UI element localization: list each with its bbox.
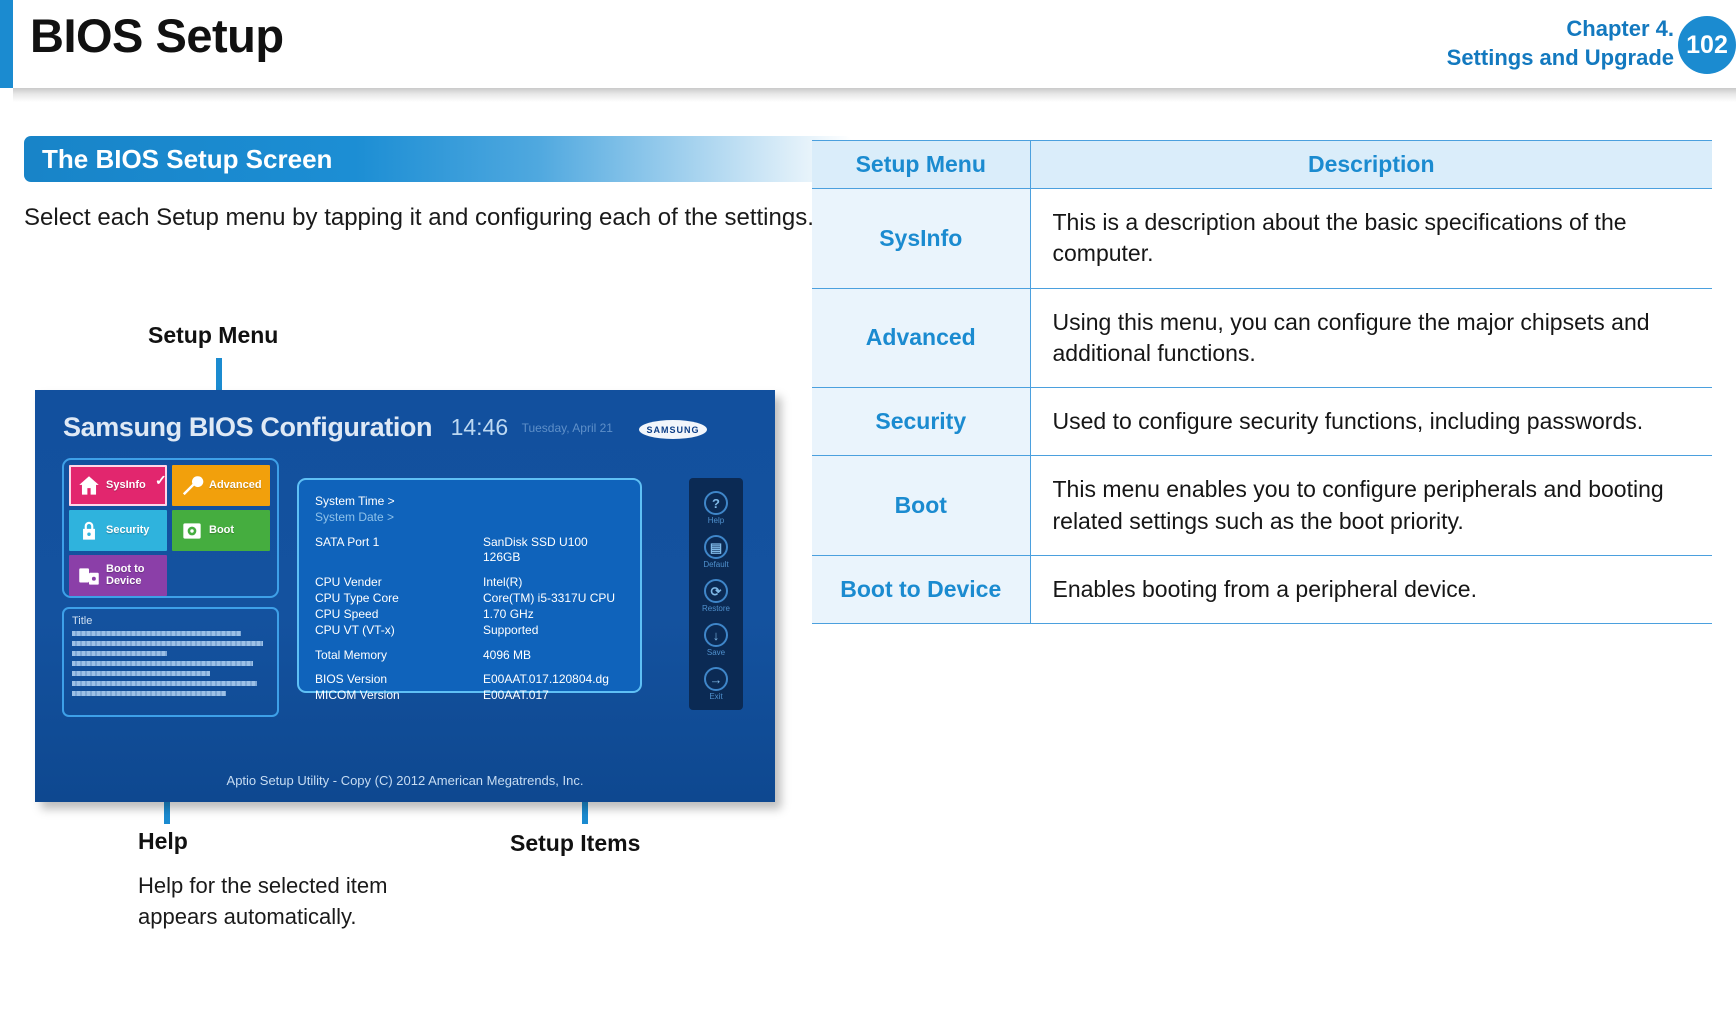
info-key: CPU Speed	[315, 607, 483, 623]
info-key: BIOS Version	[315, 672, 483, 688]
info-value: Core(TM) i5-3317U CPU	[483, 591, 615, 607]
info-key: Total Memory	[315, 648, 483, 664]
info-row-sata-port-1: SATA Port 1 SanDisk SSD U100 126GB	[315, 535, 624, 567]
info-row-cpu-type-core: CPU Type Core Core(TM) i5-3317U CPU	[315, 591, 624, 607]
info-value: E00AAT.017	[483, 688, 549, 704]
info-row-system-date[interactable]: System Date >	[315, 510, 624, 526]
table-cell-menu: Boot	[812, 456, 1030, 556]
bios-copyright-footer: Aptio Setup Utility - Copy (C) 2012 Amer…	[35, 773, 775, 788]
info-row-total-memory: Total Memory 4096 MB	[315, 648, 624, 664]
info-row-cpu-speed: CPU Speed 1.70 GHz	[315, 607, 624, 623]
bios-tile-security[interactable]: Security	[69, 510, 167, 551]
table-row: SysInfo This is a description about the …	[812, 189, 1712, 289]
callout-setup-menu-label: Setup Menu	[148, 322, 278, 349]
table-cell-menu: Boot to Device	[812, 555, 1030, 623]
bios-tile-label: Security	[106, 525, 149, 537]
bios-tile-label: Boot	[209, 525, 234, 537]
table-row: Advanced Using this menu, you can config…	[812, 288, 1712, 388]
bios-action-help[interactable]: ? Help	[689, 486, 743, 530]
table-cell-description: This is a description about the basic sp…	[1030, 189, 1712, 289]
bios-action-label: Default	[703, 560, 728, 569]
info-key: CPU Type Core	[315, 591, 483, 607]
info-key: MICOM Version	[315, 688, 483, 704]
save-icon: ↓	[704, 623, 728, 647]
bios-tile-boot[interactable]: Boot	[172, 510, 270, 551]
bios-help-box-title: Title	[72, 615, 269, 627]
bios-action-iconbar: ? Help ▤ Default ⟳ Restore ↓ Save → Exit	[689, 478, 743, 710]
help-placeholder-line	[72, 681, 257, 686]
table-row: Security Used to configure security func…	[812, 388, 1712, 456]
spacer	[315, 663, 624, 672]
callout-help-label: Help	[138, 828, 188, 855]
bios-tile-label: Boot to Device	[106, 564, 167, 588]
table-row: Boot to Device Enables booting from a pe…	[812, 555, 1712, 623]
chapter-line-2: Settings and Upgrade	[1447, 43, 1674, 72]
info-value: 1.70 GHz	[483, 607, 534, 623]
exit-icon: →	[704, 667, 728, 691]
bios-action-default[interactable]: ▤ Default	[689, 530, 743, 574]
restore-icon: ⟳	[704, 579, 728, 603]
default-icon: ▤	[704, 535, 728, 559]
bios-system-info-panel: System Time > System Date > SATA Port 1 …	[297, 478, 642, 693]
section-banner: The BIOS Setup Screen	[24, 136, 852, 182]
table-row: Boot This menu enables you to configure …	[812, 456, 1712, 556]
info-row-system-time[interactable]: System Time >	[315, 494, 624, 510]
help-placeholder-line	[72, 631, 241, 636]
help-placeholder-line	[72, 651, 167, 656]
info-row-cpu-vender: CPU Vender Intel(R)	[315, 575, 624, 591]
setup-menu-table: Setup Menu Description SysInfo This is a…	[812, 140, 1712, 624]
info-value: SanDisk SSD U100 126GB	[483, 535, 624, 567]
info-key: CPU VT (VT-x)	[315, 623, 483, 639]
info-value: 4096 MB	[483, 648, 531, 664]
table-cell-description: Used to configure security functions, in…	[1030, 388, 1712, 456]
info-value: Supported	[483, 623, 538, 639]
bios-title-row: Samsung BIOS Configuration 14:46 Tuesday…	[63, 412, 613, 446]
bios-action-label: Exit	[709, 692, 722, 701]
bios-action-label: Restore	[702, 604, 730, 613]
bios-action-save[interactable]: ↓ Save	[689, 618, 743, 662]
bios-date: Tuesday, April 21	[522, 421, 613, 435]
table-header-row: Setup Menu Description	[812, 141, 1712, 189]
samsung-logo: SAMSUNG	[639, 420, 707, 439]
bios-action-exit[interactable]: → Exit	[689, 662, 743, 706]
bios-action-label: Save	[707, 648, 725, 657]
spacer	[315, 566, 624, 575]
table-header-description: Description	[1030, 141, 1712, 189]
spacer	[315, 639, 624, 648]
bios-help-box: Title	[62, 607, 279, 717]
help-placeholder-line	[72, 661, 253, 666]
chapter-label: Chapter 4. Settings and Upgrade	[1447, 14, 1674, 72]
intro-paragraph: Select each Setup menu by tapping it and…	[24, 202, 824, 235]
lock-icon	[76, 518, 102, 544]
bios-tile-boot-to-device[interactable]: Boot to Device	[69, 555, 167, 596]
bios-tile-label: Advanced	[209, 480, 262, 492]
info-row-cpu-vt: CPU VT (VT-x) Supported	[315, 623, 624, 639]
bios-action-label: Help	[708, 516, 724, 525]
wrench-icon	[179, 473, 205, 499]
table-cell-description: Enables booting from a peripheral device…	[1030, 555, 1712, 623]
table-cell-description: Using this menu, you can configure the m…	[1030, 288, 1712, 388]
left-column: The BIOS Setup Screen Select each Setup …	[24, 136, 864, 235]
info-value: E00AAT.017.120804.dg	[483, 672, 609, 688]
bios-tile-advanced[interactable]: Advanced	[172, 465, 270, 506]
table-cell-menu: Security	[812, 388, 1030, 456]
table-header-setup-menu: Setup Menu	[812, 141, 1030, 189]
info-value: Intel(R)	[483, 575, 522, 591]
check-icon: ✓	[155, 472, 167, 489]
spacer	[315, 526, 624, 535]
boot-device-icon	[76, 563, 102, 589]
bios-tile-sysinfo[interactable]: SysInfo ✓	[69, 465, 167, 506]
page-number-badge: 102	[1678, 16, 1736, 74]
info-key: System Time >	[315, 494, 395, 510]
bios-menu-tile-panel: SysInfo ✓ Advanced Security Boot	[62, 458, 279, 598]
home-icon	[76, 473, 102, 499]
disk-icon	[179, 518, 205, 544]
info-row-micom-version: MICOM Version E00AAT.017	[315, 688, 624, 704]
bios-tile-label: SysInfo	[106, 480, 146, 492]
section-title: The BIOS Setup Screen	[42, 144, 332, 175]
question-icon: ?	[704, 491, 728, 515]
page-title: BIOS Setup	[30, 8, 284, 63]
info-key: CPU Vender	[315, 575, 483, 591]
table-cell-menu: Advanced	[812, 288, 1030, 388]
bios-clock: 14:46	[451, 414, 509, 441]
help-placeholder-line	[72, 641, 263, 646]
header-accent-bar	[0, 0, 13, 88]
info-row-bios-version: BIOS Version E00AAT.017.120804.dg	[315, 672, 624, 688]
table-cell-description: This menu enables you to configure perip…	[1030, 456, 1712, 556]
table-cell-menu: SysInfo	[812, 189, 1030, 289]
callout-setup-items-label: Setup Items	[510, 830, 640, 857]
bios-app-title: Samsung BIOS Configuration	[63, 412, 432, 443]
bios-screenshot-image: Samsung BIOS Configuration 14:46 Tuesday…	[35, 390, 775, 802]
help-placeholder-line	[72, 671, 210, 676]
page-header: BIOS Setup Chapter 4. Settings and Upgra…	[0, 0, 1736, 100]
help-placeholder-line	[72, 691, 226, 696]
header-divider	[13, 88, 1736, 102]
info-key: System Date >	[315, 510, 394, 526]
bios-action-restore[interactable]: ⟳ Restore	[689, 574, 743, 618]
chapter-line-1: Chapter 4.	[1447, 14, 1674, 43]
info-key: SATA Port 1	[315, 535, 483, 567]
callout-help-description: Help for the selected item appears autom…	[138, 870, 468, 932]
